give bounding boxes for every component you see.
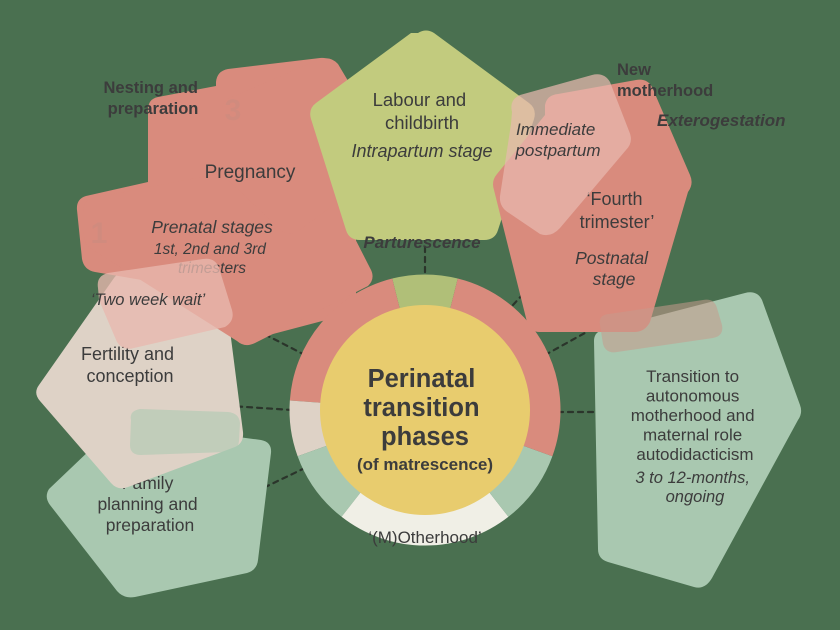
ring-segment-fertility[interactable] <box>305 402 312 451</box>
phase-two-week-wait-label: ‘Two week wait’ <box>91 291 206 309</box>
pregnancy-watermark-1: 1 <box>91 217 108 250</box>
pregnancy-watermark-3: 3 <box>225 94 242 127</box>
label-exterogestation: Exterogestation <box>657 111 785 130</box>
center-subtitle: (of matrescence) <box>357 455 493 474</box>
center-title: Perinatal transition phases <box>363 365 486 451</box>
overlap-wash-family <box>130 409 240 455</box>
phase-pregnancy-subtitle: Prenatal stages <box>151 217 273 237</box>
ring-label-motherhood: ‘(M)Otherhood’ <box>368 528 481 547</box>
ring-segment-labour[interactable] <box>396 290 454 294</box>
center-ring: Perinatal transition phases (of matresce… <box>305 290 545 547</box>
diagram-canvas: Family planning and preparation Transiti… <box>0 0 840 630</box>
phase-labour-childbirth-subtitle: Intrapartum stage <box>351 141 492 161</box>
phase-transition-autonomous-label: Transition to autonomous motherhood and … <box>631 367 760 464</box>
phase-pregnancy-title: Pregnancy <box>205 162 296 183</box>
label-parturescence: Parturescence <box>363 233 480 252</box>
